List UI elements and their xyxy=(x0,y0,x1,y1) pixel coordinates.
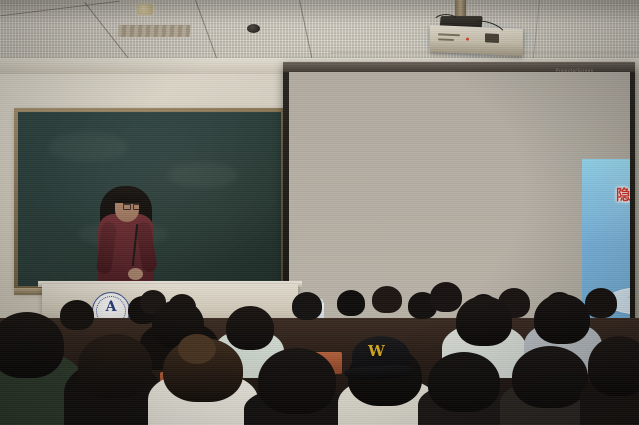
projector-cable xyxy=(432,14,460,34)
lecture-hall-photo: ProjectorScreen 隐秘标准之二：公司对人才的特殊偏好 "汇志IT大… xyxy=(0,0,639,425)
chalk-smudge xyxy=(48,132,128,162)
emblem-letter: A xyxy=(106,300,117,314)
bottle-cap xyxy=(319,299,323,303)
audience-area xyxy=(0,318,639,425)
projector-vent xyxy=(438,38,454,41)
projection-screen-surface: 隐秘标准之二：公司对人才的特殊偏好 "汇志IT大学的毕业生较 工作几面很用功，孩… xyxy=(289,72,630,320)
eyeglasses-icon xyxy=(123,203,140,209)
presenter-bangs xyxy=(112,188,142,203)
presenter-hands xyxy=(128,268,143,280)
slide-title: 隐秘标准之二：公司对人才的特殊偏好 xyxy=(582,184,630,205)
eyeglass-lens xyxy=(133,204,141,210)
bubble-line: "我们注重协商业务的 xyxy=(628,296,630,301)
presentation-slide: 隐秘标准之二：公司对人才的特殊偏好 "汇志IT大学的毕业生较 工作几面很用功，孩… xyxy=(582,159,630,320)
projector-led xyxy=(466,38,469,41)
chalk-smudge xyxy=(168,162,238,188)
eyeglass-lens xyxy=(123,204,131,210)
